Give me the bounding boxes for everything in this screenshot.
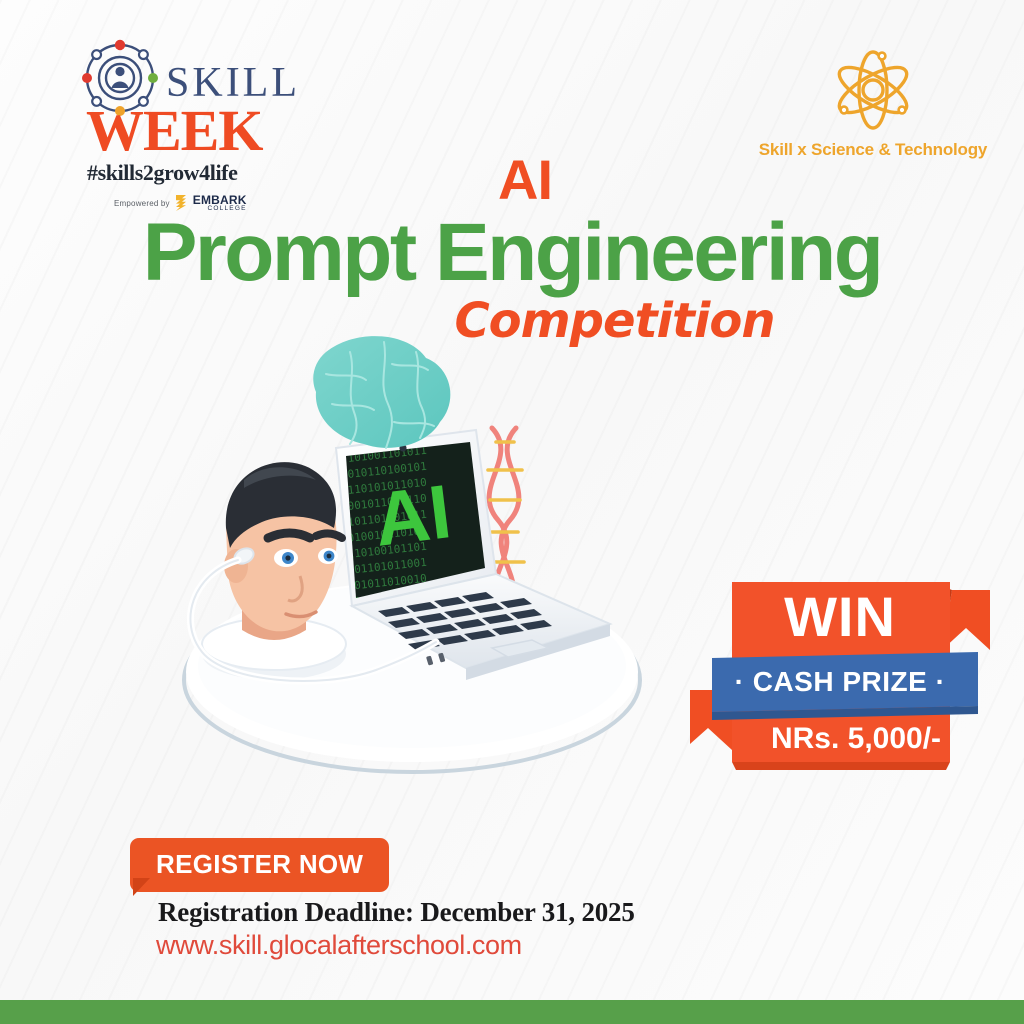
brain-icon	[313, 336, 450, 448]
badge-amount-text: NRs. 5,000/-	[690, 724, 1006, 754]
ai-brain-laptop-illustration: 101001101011 010110100101 110101011010 0…	[140, 330, 680, 780]
illustration-svg: 101001101011 010110100101 110101011010 0…	[140, 330, 680, 780]
screen-ai-text: AI	[370, 469, 456, 563]
win-cash-prize-badge: WIN · CASH PRIZE · NRs. 5,000/-	[690, 572, 990, 777]
badge-win-text: WIN	[690, 589, 1024, 645]
badge-cash-prize-text: · CASH PRIZE ·	[690, 668, 990, 696]
bottom-green-bar	[0, 1000, 1024, 1024]
poster-canvas: SKILL WEEK #skills2grow4life Empowered b…	[0, 0, 1024, 1024]
title-ai: AI	[26, 152, 1024, 208]
register-button-tail	[133, 878, 150, 896]
register-now-button[interactable]: REGISTER NOW	[130, 838, 389, 892]
registration-deadline-text: Registration Deadline: December 31, 2025	[158, 897, 635, 928]
title-main: Prompt Engineering	[0, 210, 1024, 295]
page-title: AI Prompt Engineering Competition	[0, 152, 1024, 345]
eyebrow-right	[316, 533, 342, 538]
eyebrow-left	[268, 533, 310, 538]
atom-icon	[827, 44, 919, 136]
website-url-text[interactable]: www.skill.glocalafterschool.com	[156, 930, 522, 961]
